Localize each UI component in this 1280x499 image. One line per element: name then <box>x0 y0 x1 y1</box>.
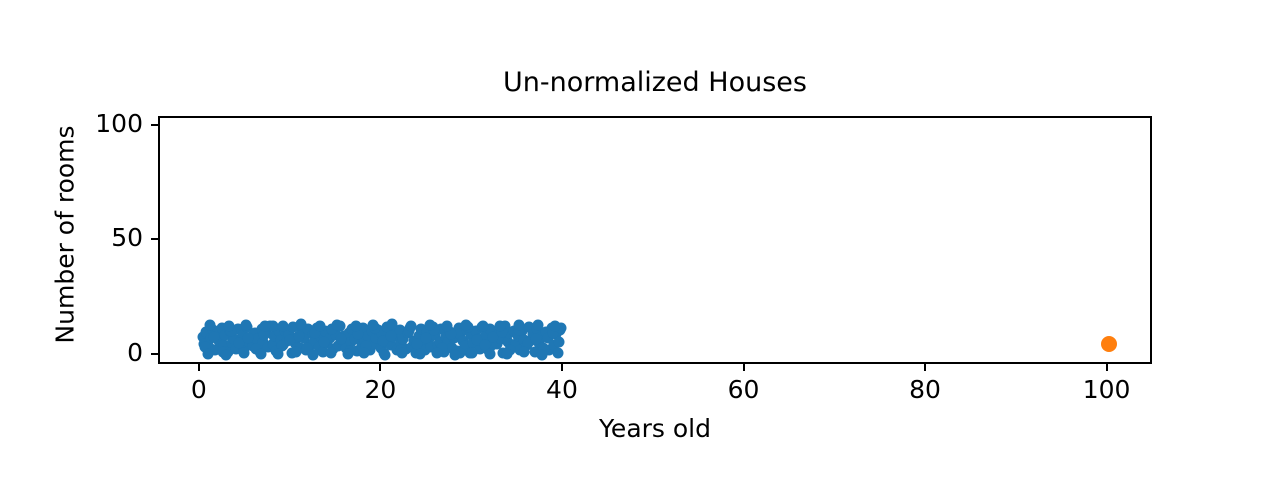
data-point <box>514 319 525 330</box>
data-point <box>406 321 417 332</box>
data-point <box>243 332 254 343</box>
data-point <box>368 320 379 331</box>
data-point <box>478 320 489 331</box>
chart-title: Un-normalized Houses <box>158 68 1152 98</box>
data-point <box>424 320 435 331</box>
data-point <box>552 348 563 359</box>
data-point <box>221 349 232 360</box>
data-point <box>319 337 330 348</box>
data-point <box>308 349 319 360</box>
data-point <box>549 321 560 332</box>
y-tick-label: 100 <box>0 109 143 138</box>
data-point <box>203 348 214 359</box>
x-tick-label: 0 <box>139 375 259 404</box>
x-tick <box>198 364 200 371</box>
x-tick <box>379 364 381 371</box>
data-point <box>484 348 495 359</box>
data-point <box>450 349 461 360</box>
data-point <box>532 320 543 331</box>
data-point <box>238 347 249 358</box>
data-point <box>223 321 234 332</box>
data-point <box>293 331 304 342</box>
data-point <box>1101 336 1117 352</box>
data-point <box>530 333 541 344</box>
data-point <box>351 321 362 332</box>
data-point <box>441 321 452 332</box>
data-point <box>342 349 353 360</box>
x-tick-label: 100 <box>1047 375 1167 404</box>
x-tick <box>1106 364 1108 371</box>
data-point <box>387 319 398 330</box>
data-point <box>209 331 220 342</box>
y-tick <box>151 124 158 126</box>
data-point <box>495 320 506 331</box>
data-point <box>241 319 252 330</box>
matplotlib-figure: Un-normalized Houses Number of rooms 050… <box>0 0 1280 499</box>
data-point <box>291 347 302 358</box>
data-point <box>314 320 325 331</box>
data-point <box>260 321 271 332</box>
data-point <box>359 347 370 358</box>
y-tick <box>151 238 158 240</box>
data-point <box>204 320 215 331</box>
data-point <box>380 350 391 361</box>
y-tick-label: 0 <box>0 338 143 367</box>
x-tick-label: 40 <box>502 375 622 404</box>
data-point <box>335 334 346 345</box>
x-tick-label: 60 <box>684 375 804 404</box>
data-point <box>325 348 336 359</box>
data-point <box>537 349 548 360</box>
data-point <box>332 319 343 330</box>
data-point <box>273 349 284 360</box>
y-tick-label: 50 <box>0 223 143 252</box>
x-tick <box>561 364 563 371</box>
data-point <box>278 320 289 331</box>
data-point <box>467 347 478 358</box>
plot-area <box>160 118 1150 362</box>
x-tick <box>743 364 745 371</box>
x-tick-label: 20 <box>320 375 440 404</box>
data-point <box>295 319 306 330</box>
data-point <box>397 348 408 359</box>
x-tick <box>924 364 926 371</box>
data-point <box>414 348 425 359</box>
x-tick-label: 80 <box>865 375 985 404</box>
y-tick <box>151 353 158 355</box>
data-point <box>519 347 530 358</box>
x-axis-label: Years old <box>158 414 1152 443</box>
data-point <box>431 347 442 358</box>
data-point <box>460 319 471 330</box>
data-point <box>501 349 512 360</box>
data-point <box>386 330 397 341</box>
axes-frame <box>158 116 1152 364</box>
data-point <box>255 348 266 359</box>
